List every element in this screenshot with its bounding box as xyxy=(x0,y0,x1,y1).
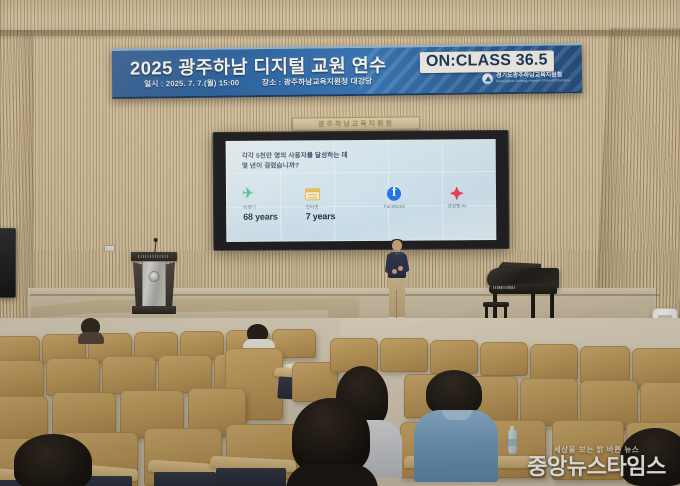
seat xyxy=(102,356,156,394)
projection-screen-frame: 각각 5천만 명의 사용자를 달성하는 데 몇 년이 걸렸습니까? 비행기 68… xyxy=(213,130,510,251)
slide-item-value: 68 years xyxy=(238,211,301,221)
audience-member-foreground xyxy=(420,370,490,480)
presentation-slide: 각각 5천만 명의 사용자를 달성하는 데 몇 년이 걸렸습니까? 비행기 68… xyxy=(226,139,497,242)
slide-item-internet: 인터넷 7 years xyxy=(300,184,363,221)
slide-question: 각각 5천만 명의 사용자를 달성하는 데 몇 년이 걸렸습니까? xyxy=(242,150,462,172)
audience-seating xyxy=(0,318,680,486)
audience-member-foreground xyxy=(14,434,92,486)
venue-sign: 광주하남교육지원청 xyxy=(292,116,420,130)
seat xyxy=(430,340,478,374)
seat xyxy=(530,344,578,380)
venue-sign-label: 광주하남교육지원청 xyxy=(318,118,394,129)
podium-body xyxy=(142,261,166,307)
slide-item-label: 비행기 xyxy=(238,204,301,210)
sparkle-ai-icon xyxy=(425,183,488,203)
slide-item-facebook: Facebook xyxy=(363,184,426,221)
audience-body xyxy=(286,464,378,486)
podium-top xyxy=(131,252,177,261)
slide-item-row: 비행기 68 years 인터넷 7 years Facebook 생성형 AI xyxy=(238,183,488,222)
seat xyxy=(520,378,578,426)
presenter-hand-left xyxy=(392,269,397,274)
podium-emblem-icon xyxy=(150,272,159,281)
podium xyxy=(131,252,177,316)
seat-arm-support xyxy=(154,472,216,486)
water-bottle xyxy=(508,430,517,454)
airplane-icon xyxy=(238,184,301,204)
slide-item-value: 7 years xyxy=(301,211,364,221)
banner-subtitle: 일시 : 2025. 7. 7.(월) 15:00 장소 : 광주하남교육지원청… xyxy=(144,76,372,90)
podium-base xyxy=(132,306,176,314)
audience-member-foreground xyxy=(292,398,370,486)
slide-item-label: 생성형 AI xyxy=(426,203,489,209)
slide-item-airplane: 비행기 68 years xyxy=(238,184,301,221)
audience-hair xyxy=(292,398,370,474)
facebook-icon xyxy=(363,184,426,204)
audience-member xyxy=(78,318,104,340)
presenter-legs xyxy=(389,276,405,318)
office-logo-mark-icon xyxy=(482,73,493,84)
slide-question-line-2: 몇 년이 걸렸습니까? xyxy=(242,161,462,173)
banner-place: 장소 : 광주하남교육지원청 대강당 xyxy=(262,77,372,87)
grand-piano xyxy=(487,264,565,320)
podium-side-right xyxy=(165,262,175,307)
piano-leg xyxy=(531,293,535,321)
banner-date: 일시 : 2025. 7. 7.(월) 15:00 xyxy=(144,78,239,88)
auditorium-photo: 2025 광주하남 디지털 교원 연수 ON:CLASS 36.5 일시 : 2… xyxy=(0,0,680,486)
seat xyxy=(580,346,630,384)
event-banner: 2025 광주하남 디지털 교원 연수 ON:CLASS 36.5 일시 : 2… xyxy=(112,43,583,99)
seat xyxy=(46,358,100,396)
piano-keys xyxy=(493,286,515,289)
browser-window-icon xyxy=(300,184,363,204)
audience-hair xyxy=(14,434,92,486)
bottle-label xyxy=(508,439,517,446)
office-logo-text: 경기도광주하남교육지원청 Gyeonggido Gwangju Hanam Of… xyxy=(496,73,570,84)
presenter-hand-right xyxy=(398,266,403,271)
audience-hair xyxy=(620,428,680,486)
audience-body xyxy=(414,410,498,482)
office-logo-sub: Gyeonggido Gwangju Hanam Office of Educa… xyxy=(496,80,570,84)
audience-body xyxy=(78,332,104,344)
slide-item-generative-ai: 생성형 AI xyxy=(425,183,488,220)
presenter-arm-right xyxy=(402,253,410,272)
slide-item-label: 인터넷 xyxy=(301,204,364,210)
presenter xyxy=(383,240,411,328)
slide-item-label: Facebook xyxy=(363,204,426,209)
piano-leg xyxy=(550,292,554,318)
seat-arm-support xyxy=(216,468,286,486)
banner-badge: ON:CLASS 36.5 xyxy=(420,50,554,73)
office-logo: 경기도광주하남교육지원청 Gyeonggido Gwangju Hanam Of… xyxy=(482,72,570,84)
seat xyxy=(0,360,44,398)
piano-leg xyxy=(493,293,497,321)
audience-member-foreground xyxy=(620,428,680,486)
wall-plate xyxy=(104,245,115,252)
audience-member xyxy=(245,324,271,348)
ceiling-shadow xyxy=(0,30,680,40)
seat xyxy=(552,420,624,480)
wall-monitor xyxy=(0,228,16,298)
stage-edge xyxy=(30,294,660,296)
